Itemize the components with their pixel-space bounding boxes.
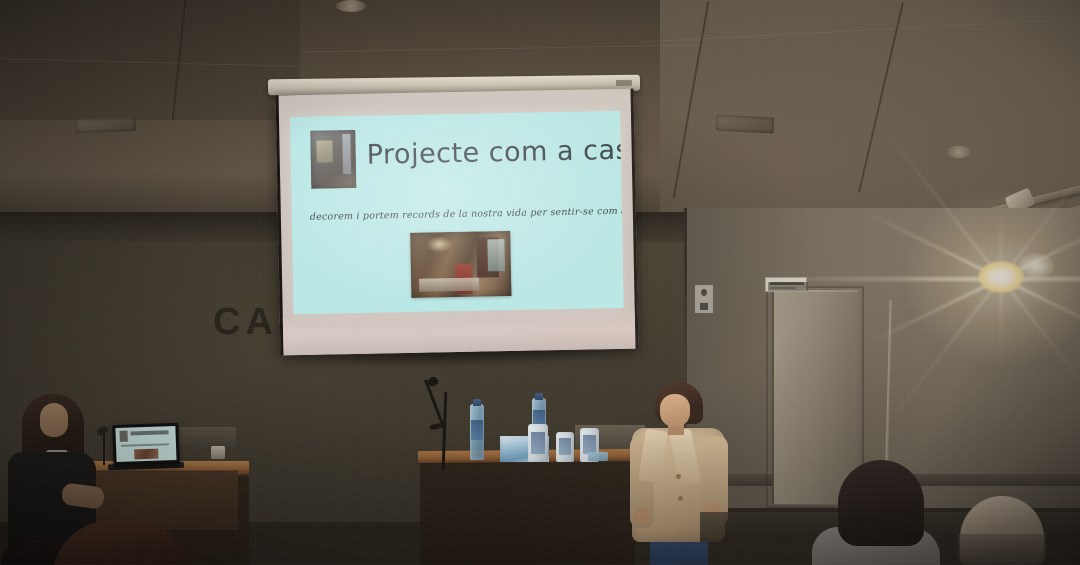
screen-blank-area [283,311,636,356]
presenter-button [678,496,683,501]
laptop-slide-photo [134,449,158,460]
ceiling-panel-lit [660,0,1080,215]
presenter-table [420,455,635,565]
water-bottle-cap [473,399,481,406]
projected-slide: Projecte com a casa decorem i portem rec… [290,111,624,314]
presenter-hand-left [634,508,650,524]
presenter-lapel-right [669,428,701,485]
desk-microphone-stem [103,433,105,465]
presenter-face [660,394,690,427]
ceiling-vent [716,114,775,133]
projection-screen: Projecte com a casa decorem i portem rec… [276,89,639,356]
laptop-slide-thumb [119,431,127,442]
ceiling-recessed-light [946,146,972,158]
ceiling-spotlight [978,261,1024,293]
audience-man-hair [958,534,1046,565]
ceiling-recessed-light [336,0,366,12]
water-bottle[interactable] [470,404,484,460]
left-back-panel [172,427,236,449]
photo-table [419,278,479,292]
slide-subtitle: decorem i portem records de la nostra vi… [310,205,624,223]
presenter-button [676,474,681,479]
laptop-screen [115,426,176,462]
laptop-slide-title [131,430,169,435]
slide-corner-photo [310,130,356,189]
slide-interior-photo [410,231,511,298]
photo-chandelier [426,236,452,252]
laptop-slide-subtitle [121,443,169,447]
presentation-room-photo: CASA Projecte com a casa decorem i porte… [0,0,1080,565]
photo-window [487,239,505,271]
wall-sign-dark-strip [768,282,808,291]
room-door[interactable] [772,290,858,504]
water-bottle-cap [535,393,543,400]
ceiling-vent [76,117,136,133]
laptop[interactable] [112,423,179,467]
table-small-item[interactable] [588,452,608,461]
moderator-face [40,403,68,437]
audience-woman-hair [838,460,924,546]
desk-cup [211,446,225,459]
product-bottle[interactable] [528,424,548,462]
slide-title: Projecte com a casa [366,134,623,170]
product-bottle[interactable] [556,432,574,462]
screen-housing-knob [616,80,632,86]
wall-sign-info [695,285,713,313]
